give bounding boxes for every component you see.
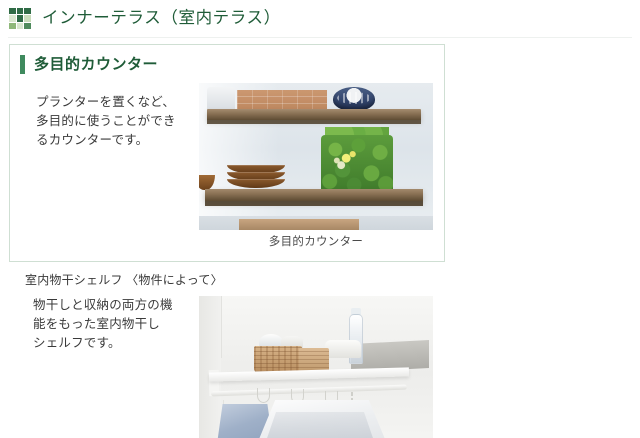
- indoor-laundry-shelf-photo: [199, 296, 433, 438]
- photo1-green-plant: [321, 135, 393, 193]
- laundry-shelf-title: 室内物干シェルフ 〈物件によって〉: [25, 271, 223, 288]
- multi-purpose-counter-photo: [199, 83, 433, 230]
- photo1-blue-patterned-dish: [333, 87, 375, 111]
- card-body-line-3: るカウンターです。: [36, 131, 201, 150]
- photo1-caption: 多目的カウンター: [199, 233, 433, 249]
- photo1-upper-shelf-edge: [207, 120, 421, 124]
- photo1-white-jar: [207, 87, 235, 111]
- laundry-body-line-3: シェルフです。: [33, 334, 201, 353]
- card-body-text: プランターを置くなど、 多目的に使うことができ るカウンターです。: [36, 93, 201, 150]
- page-header: インナーテラス（室内テラス）: [0, 0, 640, 37]
- page-title: インナーテラス（室内テラス）: [42, 10, 281, 27]
- laundry-body-line-2: 能をもった室内物干し: [33, 315, 201, 334]
- card-body-line-1: プランターを置くなど、: [36, 93, 201, 112]
- photo1-lower-shelf-edge: [205, 201, 423, 206]
- multi-purpose-counter-card: 多目的カウンター プランターを置くなど、 多目的に使うことができ るカウンターで…: [9, 44, 445, 262]
- photo1-lower-shelf: [205, 189, 423, 201]
- heading-accent-bar: [20, 55, 25, 74]
- photo1-brick-block: [237, 90, 327, 111]
- laundry-shelf-body-text: 物干しと収納の両方の機 能をもった室内物干し シェルフです。: [33, 296, 201, 353]
- card-body-line-2: 多目的に使うことができ: [36, 112, 201, 131]
- photo1-upper-shelf: [207, 109, 421, 120]
- card-heading-text: 多目的カウンター: [34, 57, 158, 72]
- photo1-lowest-shelf: [239, 219, 359, 230]
- card-heading: 多目的カウンター: [20, 55, 158, 74]
- header-divider: [8, 37, 632, 38]
- photo1-stacked-wooden-bowls: [227, 165, 285, 191]
- grid-squares-icon: [9, 8, 31, 30]
- photo2-garment-shadow: [265, 412, 375, 438]
- laundry-body-line-1: 物干しと収納の両方の機: [33, 296, 201, 315]
